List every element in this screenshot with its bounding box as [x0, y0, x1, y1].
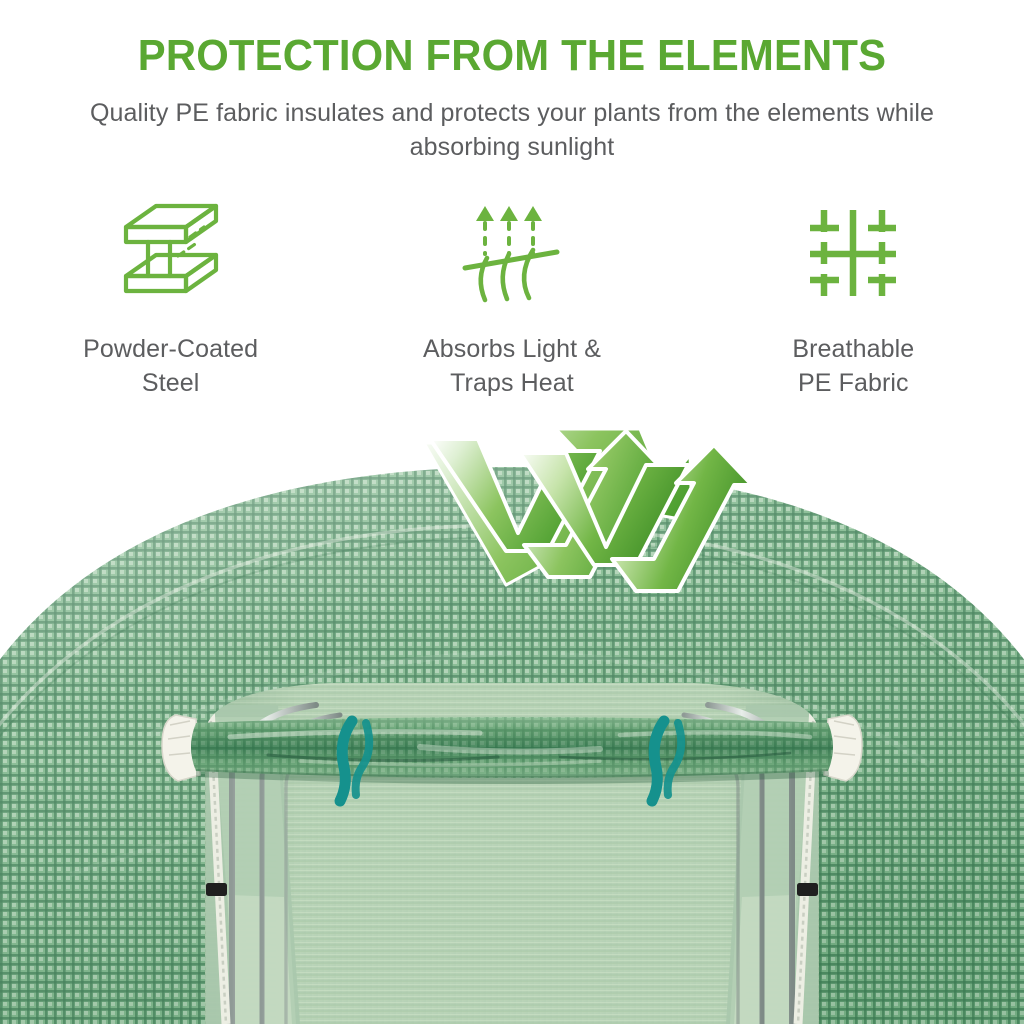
sprouts-light-rays-icon: [442, 190, 582, 315]
zipper-pull-right: [797, 883, 818, 896]
header-section: PROTECTION FROM THE ELEMENTS Quality PE …: [0, 0, 1024, 180]
woven-mesh-icon: [783, 190, 923, 315]
feature-item-powder-coated-steel: Powder-Coated Steel: [0, 190, 341, 405]
feature-item-absorbs-light: Absorbs Light & Traps Heat: [341, 190, 682, 405]
feature-label-powder-coated-steel: Powder-Coated Steel: [83, 332, 258, 400]
zipper-pull-left: [206, 883, 227, 896]
page-subtitle: Quality PE fabric insulates and protects…: [72, 96, 952, 164]
page-title: PROTECTION FROM THE ELEMENTS: [26, 34, 999, 78]
feature-list: Powder-Coated Steel: [0, 190, 1024, 405]
feature-label-breathable-fabric: Breathable PE Fabric: [792, 332, 914, 400]
feature-item-breathable-fabric: Breathable PE Fabric: [683, 190, 1024, 405]
i-beam-icon: [101, 190, 241, 315]
feature-label-absorbs-light: Absorbs Light & Traps Heat: [423, 332, 601, 400]
product-photo-greenhouse: [0, 405, 1024, 1024]
